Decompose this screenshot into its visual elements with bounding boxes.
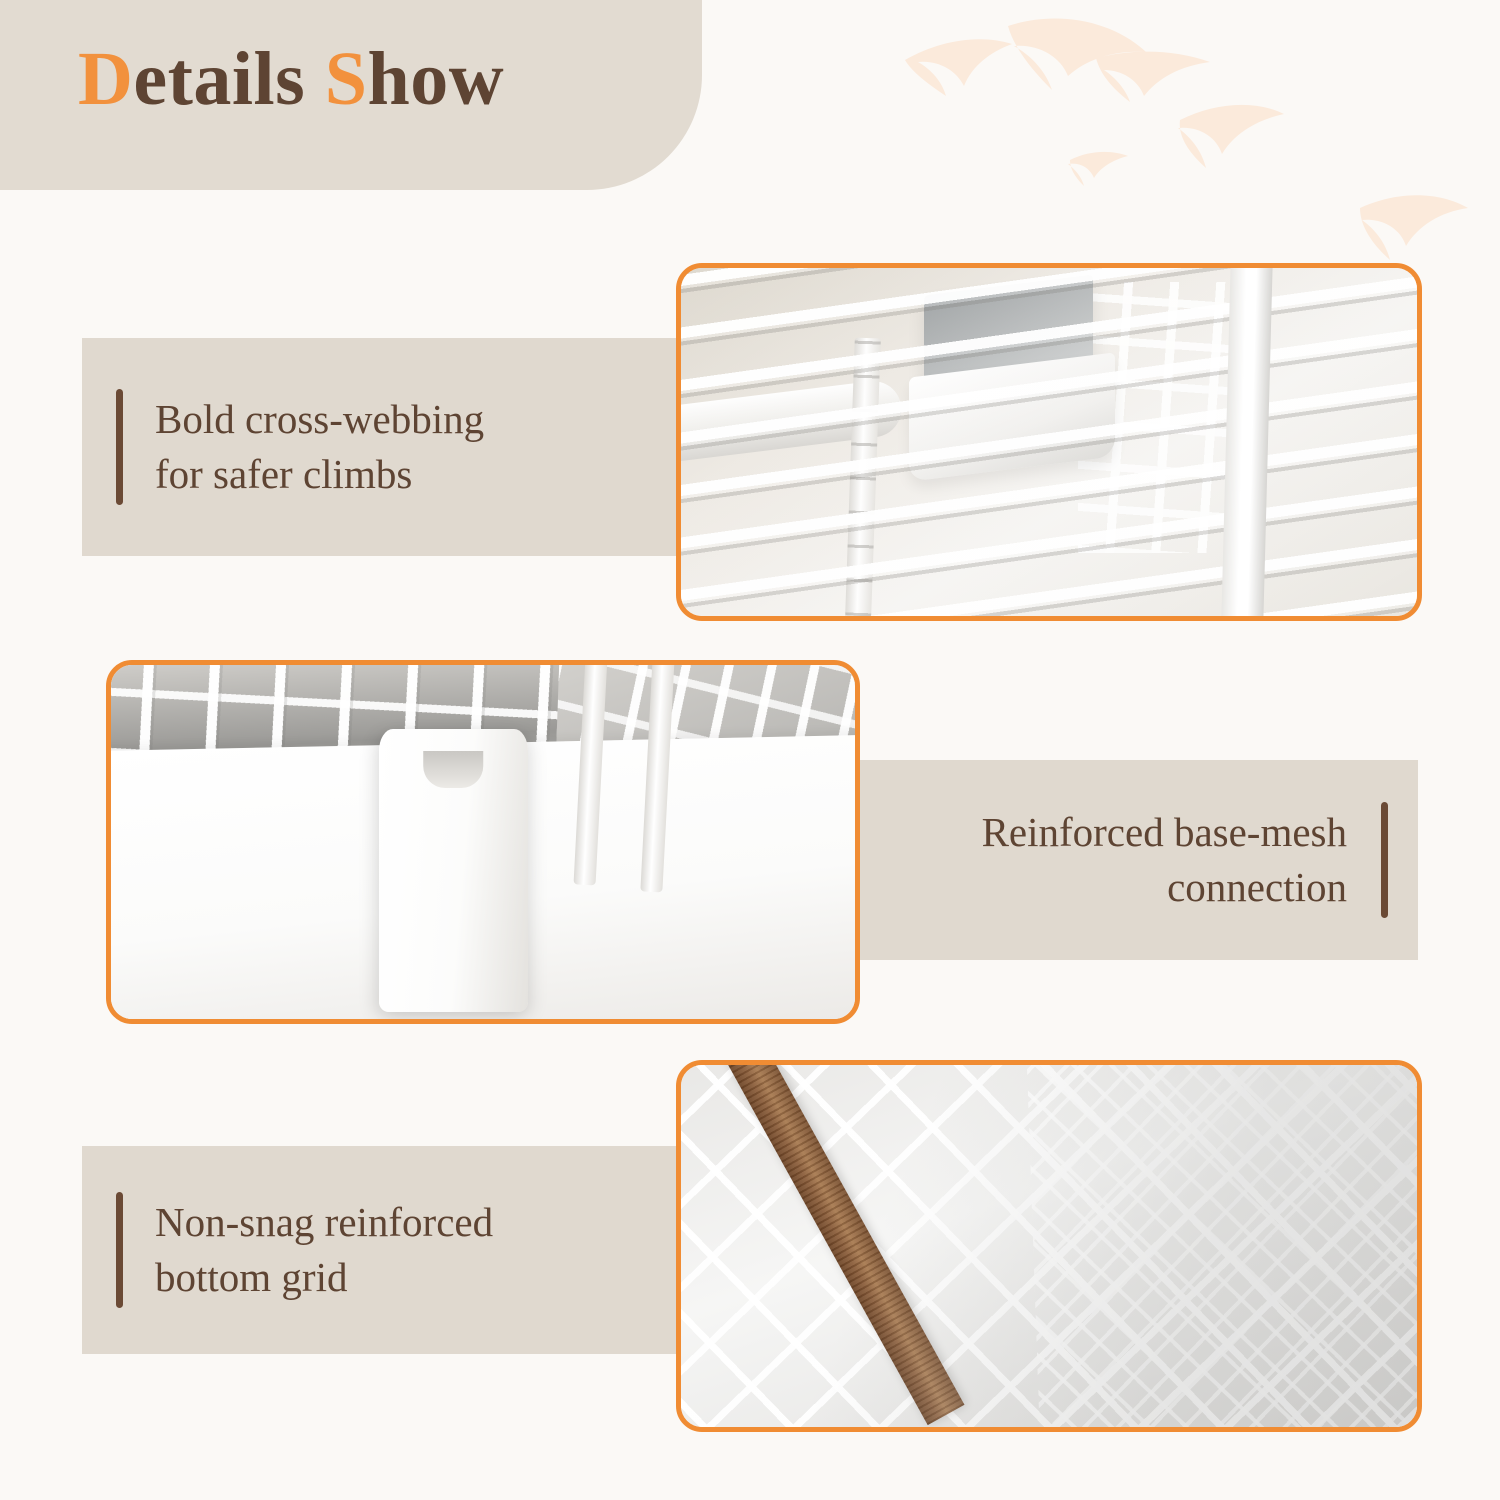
page-title: Details Show xyxy=(78,38,504,122)
bird-icon xyxy=(1096,52,1210,102)
caption-accent-bar xyxy=(1381,802,1388,918)
bird-icon xyxy=(1360,195,1468,260)
cage-horizontal-bars xyxy=(681,268,1417,616)
caption-line-2: for safer climbs xyxy=(155,447,484,502)
bird-icon xyxy=(1178,105,1284,168)
page-title-accent-d: D xyxy=(78,37,133,121)
photo-image-bottom-grid xyxy=(681,1065,1417,1427)
caption-text: Bold cross-webbing for safer climbs xyxy=(155,392,484,502)
caption-accent-bar xyxy=(116,1192,123,1308)
base-latch-clip xyxy=(379,729,528,1012)
page-title-rest-show: how xyxy=(368,37,505,121)
caption-line-2: connection xyxy=(982,860,1347,915)
bird-icon xyxy=(905,39,1012,96)
caption-text: Non-snag reinforced bottom grid xyxy=(155,1195,493,1305)
caption-text: Reinforced base-mesh connection xyxy=(982,805,1347,915)
bird-icon xyxy=(1068,152,1128,186)
page-title-accent-s: S xyxy=(325,37,368,121)
caption-accent-bar xyxy=(116,389,123,505)
feature-photo-non-snag-bottom-grid xyxy=(676,1060,1422,1432)
caption-line-1: Bold cross-webbing xyxy=(155,392,484,447)
feature-photo-reinforced-base-mesh xyxy=(106,660,860,1024)
caption-line-1: Reinforced base-mesh xyxy=(982,805,1347,860)
feature-photo-bold-cross-webbing xyxy=(676,263,1422,621)
bird-icon xyxy=(1008,18,1146,90)
caption-line-2: bottom grid xyxy=(155,1250,493,1305)
page-title-rest-details: etails xyxy=(133,37,324,121)
feature-caption-reinforced-base-mesh: Reinforced base-mesh connection xyxy=(830,760,1418,960)
latch-grip-hole xyxy=(423,751,483,788)
photo-image-base-mesh-latch xyxy=(111,665,855,1019)
feature-caption-bold-cross-webbing: Bold cross-webbing for safer climbs xyxy=(82,338,690,556)
caption-line-1: Non-snag reinforced xyxy=(155,1195,493,1250)
feature-caption-non-snag-bottom-grid: Non-snag reinforced bottom grid xyxy=(82,1146,690,1354)
header-banner: Details Show xyxy=(0,0,702,190)
photo-image-cage-cross-webbing xyxy=(681,268,1417,616)
photo-shading-overlay xyxy=(681,1065,1417,1427)
